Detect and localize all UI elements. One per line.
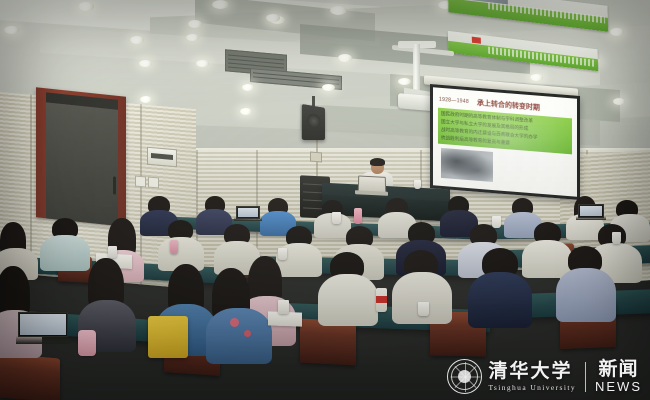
ceiling-downlight: [186, 34, 199, 41]
pink-cup: [78, 330, 96, 356]
watermark-news-en: NEWS: [595, 380, 642, 393]
watermark-divider: [585, 362, 586, 392]
ceiling-downlight: [398, 78, 411, 85]
tsinghua-seal-icon: [447, 359, 482, 394]
wall-socket[interactable]: [148, 177, 159, 189]
cup: [492, 216, 501, 228]
wall-socket[interactable]: [135, 176, 146, 188]
watermark-news-cn: 新闻: [598, 360, 638, 379]
cup: [418, 302, 429, 316]
ceiling-downlight: [330, 6, 347, 15]
attendee-body: [522, 240, 572, 278]
attendee-body: [468, 272, 532, 328]
wall-speaker-icon: [302, 104, 325, 140]
watermark: 清华大学 Tsinghua University 新闻 NEWS: [447, 359, 642, 394]
ceiling-downlight: [78, 2, 94, 11]
shirt-floral-motif: [230, 318, 239, 327]
ceiling-downlight: [212, 0, 229, 9]
attendee-laptop: [236, 206, 260, 221]
ceiling-downlight: [196, 60, 209, 67]
ceiling-downlight: [242, 84, 254, 91]
water-bottle: [354, 208, 362, 224]
room-door[interactable]: [36, 87, 126, 226]
ceiling-downlight: [613, 98, 625, 105]
ceiling-downlight: [4, 26, 19, 34]
shirt-floral-motif: [244, 330, 251, 337]
ceiling-downlight: [530, 74, 543, 81]
ceiling-downlight: [130, 36, 144, 44]
ceiling-downlight: [139, 60, 152, 67]
attendee-laptop: [578, 204, 604, 220]
watermark-university-en: Tsinghua University: [488, 383, 576, 392]
ceiling-downlight: [188, 20, 202, 28]
water-bottle: [170, 240, 178, 254]
chair: [0, 353, 60, 400]
ceiling-downlight: [240, 108, 252, 115]
wall-junction-box: [310, 151, 322, 162]
cup: [414, 180, 421, 189]
attendee-body: [318, 274, 378, 326]
ceiling-downlight: [140, 96, 152, 103]
cup: [332, 212, 341, 224]
cup: [612, 232, 621, 244]
ceiling-downlight: [322, 84, 335, 91]
lecture-hall-photo: 1928—1948 承上转合的转变时期 国民政府时期的高等教育体制与学科调整改革…: [0, 0, 650, 400]
attendee-laptop: [18, 312, 68, 344]
ceiling-downlight: [266, 14, 280, 22]
yellow-bag: [148, 316, 188, 358]
wall-control-panel[interactable]: [147, 147, 177, 168]
door-handle[interactable]: [113, 176, 116, 194]
ceiling-downlight: [610, 28, 624, 36]
attendee-body: [392, 272, 452, 324]
bottle-label: [376, 296, 387, 303]
presenter-hair: [370, 158, 385, 166]
cup: [108, 246, 117, 258]
watermark-university-cn: 清华大学: [488, 362, 576, 381]
cup: [278, 248, 287, 260]
cup: [278, 300, 289, 314]
projection-screen: 1928—1948 承上转合的转变时期 国民政府时期的高等教育体制与学科调整改革…: [430, 84, 580, 200]
ceiling-downlight: [338, 54, 352, 62]
attendee-body: [556, 268, 616, 322]
attendee-body: [40, 235, 90, 271]
attendee-denim-shirt: [206, 308, 272, 364]
